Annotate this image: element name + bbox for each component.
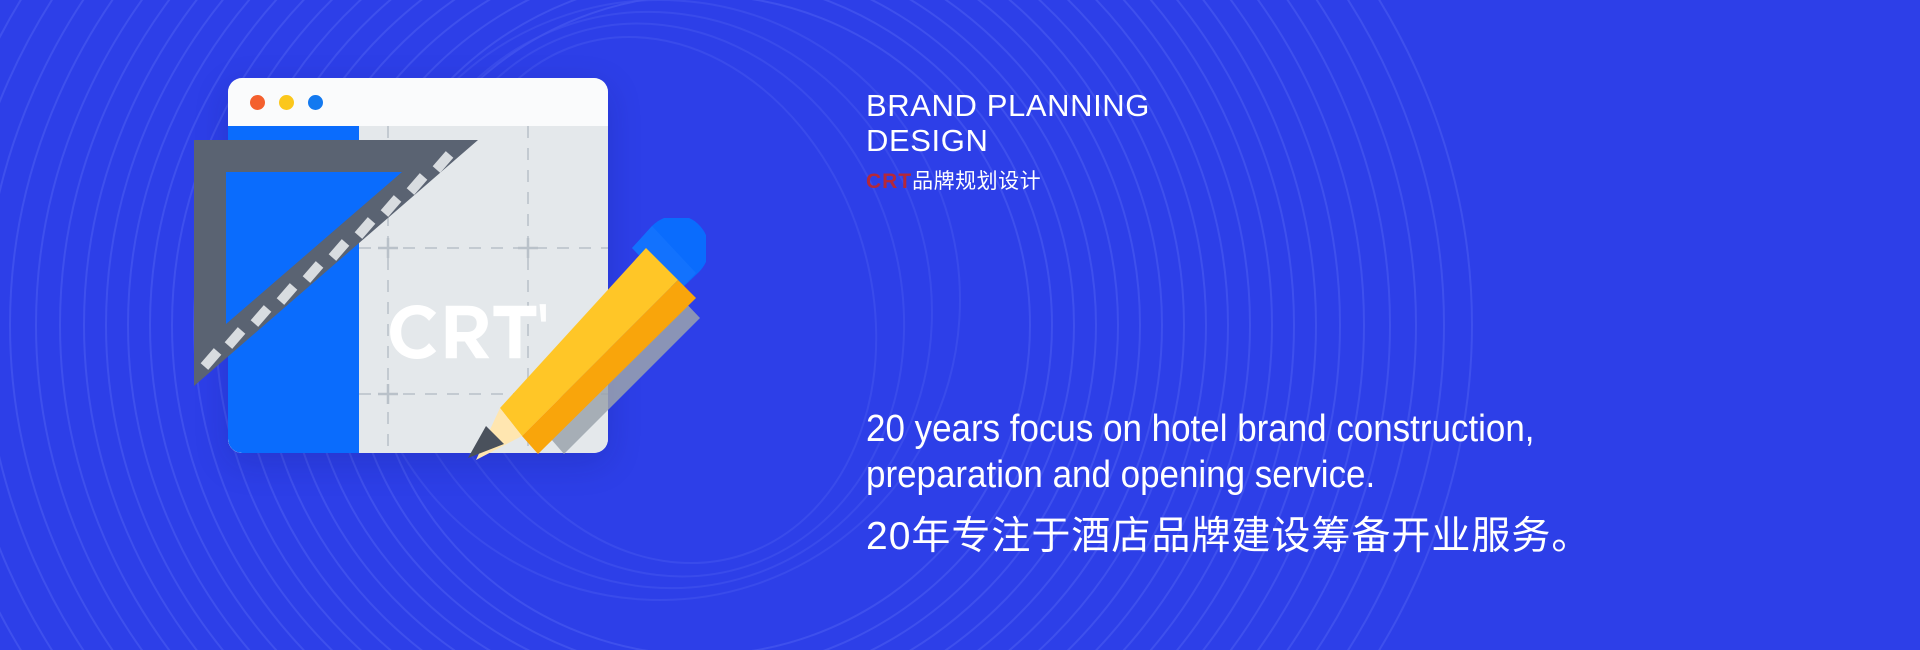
page-title: BRAND PLANNING DESIGN	[866, 88, 1426, 159]
subheading: CRT品牌规划设计	[866, 169, 1426, 194]
tagline-block: 20 years focus on hotel brand constructi…	[866, 406, 1786, 600]
close-dot	[250, 95, 265, 110]
maximize-dot	[308, 95, 323, 110]
browser-titlebar	[228, 78, 608, 126]
triangle-ruler-icon	[186, 128, 486, 390]
tagline-english: 20 years focus on hotel brand constructi…	[866, 406, 1712, 499]
brand-banner: BRAND PLANNING DESIGN CRT品牌规划设计 20 years…	[0, 0, 1920, 650]
brand-name: CRT	[866, 170, 912, 193]
headline-block: BRAND PLANNING DESIGN CRT品牌规划设计	[866, 88, 1426, 194]
minimize-dot	[279, 95, 294, 110]
tagline-chinese: 20年专注于酒店品牌建设筹备开业服务。	[866, 513, 1786, 562]
hero-illustration	[228, 78, 788, 583]
window-controls	[250, 95, 323, 110]
pencil-icon	[456, 218, 706, 468]
subheading-chinese: 品牌规划设计	[912, 170, 1041, 193]
